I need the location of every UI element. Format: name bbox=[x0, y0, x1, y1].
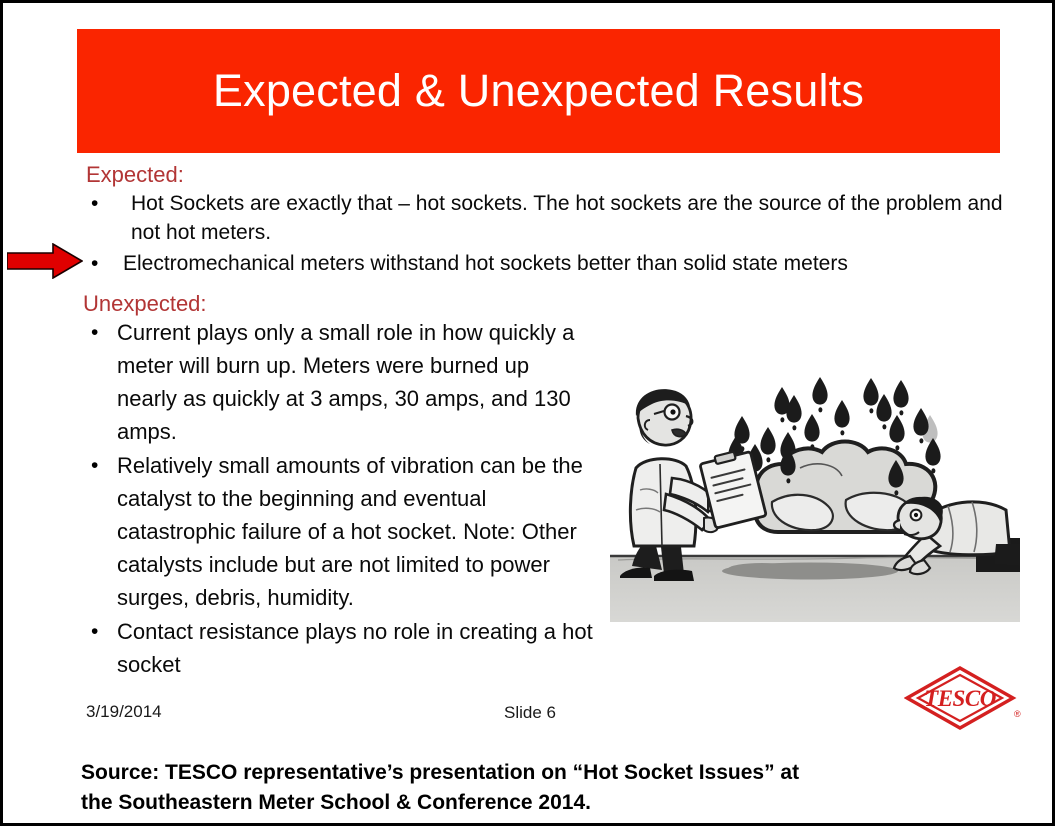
list-item-text: Hot Sockets are exactly that – hot socke… bbox=[123, 189, 1013, 247]
scientist-cloud-cartoon-illustration bbox=[610, 360, 1020, 622]
red-right-arrow-icon bbox=[7, 243, 83, 279]
section-label-unexpected: Unexpected: bbox=[83, 291, 207, 317]
bullet-glyph: • bbox=[83, 316, 117, 349]
tesco-logo-text: TESCO bbox=[924, 686, 996, 711]
bullet-glyph: • bbox=[83, 449, 117, 482]
list-item: • Hot Sockets are exactly that – hot soc… bbox=[83, 189, 1013, 247]
slide-page: Expected & Unexpected Results Expected: … bbox=[0, 0, 1055, 826]
unexpected-bullet-list: • Current plays only a small role in how… bbox=[83, 316, 593, 682]
source-caption-line-2: the Southeastern Meter School & Conferen… bbox=[81, 788, 1011, 818]
footer-date: 3/19/2014 bbox=[86, 702, 162, 722]
bullet-glyph: • bbox=[83, 615, 117, 648]
page-title: Expected & Unexpected Results bbox=[213, 65, 864, 117]
list-item: • Relatively small amounts of vibration … bbox=[83, 449, 593, 614]
source-caption: Source: TESCO representative’s presentat… bbox=[81, 758, 1011, 818]
list-item: • Current plays only a small role in how… bbox=[83, 316, 593, 448]
section-label-expected: Expected: bbox=[86, 162, 184, 188]
footer-slide-number: Slide 6 bbox=[504, 703, 556, 723]
bullet-glyph: • bbox=[83, 249, 123, 278]
list-item-text: Current plays only a small role in how q… bbox=[117, 316, 593, 448]
list-item: • Contact resistance plays no role in cr… bbox=[83, 615, 593, 681]
list-item-text: Contact resistance plays no role in crea… bbox=[117, 615, 593, 681]
list-item-text: Relatively small amounts of vibration ca… bbox=[117, 449, 593, 614]
title-banner: Expected & Unexpected Results bbox=[77, 29, 1000, 153]
source-caption-line-1: Source: TESCO representative’s presentat… bbox=[81, 758, 1011, 788]
list-item: • Electromechanical meters withstand hot… bbox=[83, 249, 1013, 278]
list-item-text: Electromechanical meters withstand hot s… bbox=[123, 249, 1013, 278]
bullet-glyph: • bbox=[83, 189, 123, 218]
tesco-logo: TESCO ® bbox=[904, 665, 1022, 731]
registered-mark: ® bbox=[1014, 709, 1021, 719]
expected-bullet-list: • Hot Sockets are exactly that – hot soc… bbox=[83, 189, 1013, 280]
